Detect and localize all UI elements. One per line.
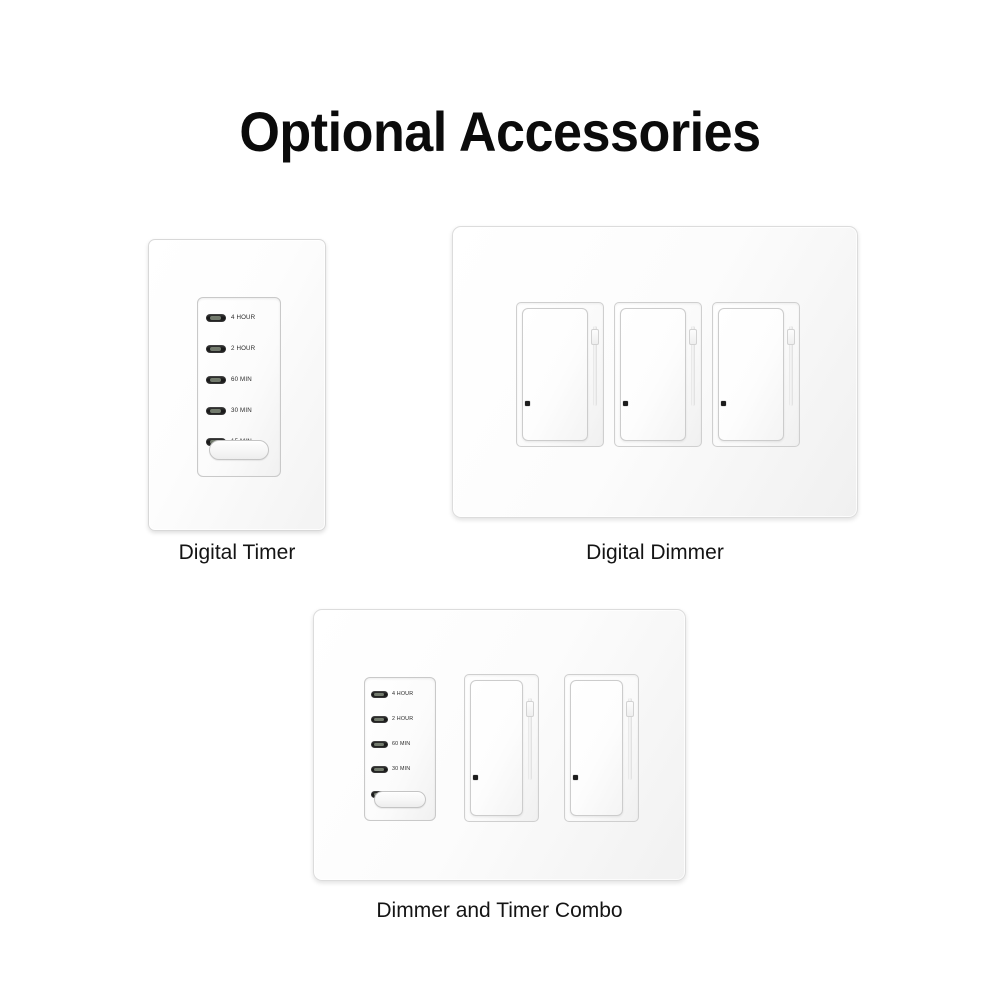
combo-timer-led-row-2-hour[interactable]: 2 HOUR <box>371 716 413 723</box>
combo-timer-led-label: 4 HOUR <box>392 692 413 697</box>
status-led-icon <box>721 401 726 406</box>
dimmer-switch-3[interactable] <box>712 302 800 447</box>
led-indicator-icon <box>371 691 388 698</box>
timer-led-row-60-min[interactable]: 60 MIN <box>206 376 252 384</box>
status-led-icon <box>623 401 628 406</box>
status-led-icon <box>473 775 478 780</box>
timer-led-label: 30 MIN <box>231 408 252 414</box>
combo-timer-module: 4 HOUR 2 HOUR 60 MIN 30 MIN 15 MIN <box>364 677 436 821</box>
caption-digital-timer: Digital Timer <box>148 541 326 565</box>
led-indicator-icon <box>206 376 226 384</box>
combo-timer-led-label: 2 HOUR <box>392 717 413 722</box>
rocker-paddle[interactable] <box>470 680 523 816</box>
combo-dimmer-switch-1[interactable] <box>464 674 539 822</box>
dimmer-slider-thumb[interactable] <box>626 701 634 717</box>
timer-led-label: 4 HOUR <box>231 315 255 321</box>
dimmer-switch-1[interactable] <box>516 302 604 447</box>
status-led-icon <box>573 775 578 780</box>
combo-dimmer-switch-2[interactable] <box>564 674 639 822</box>
page-title: Optional Accessories <box>35 103 965 162</box>
rocker-paddle[interactable] <box>620 308 686 441</box>
dimmer-slider-thumb[interactable] <box>787 329 795 345</box>
led-indicator-icon <box>371 766 388 773</box>
caption-digital-dimmer: Digital Dimmer <box>452 541 858 565</box>
timer-faceplate-module: 4 HOUR 2 HOUR 60 MIN 30 MIN 15 MIN <box>197 297 281 477</box>
timer-led-row-4-hour[interactable]: 4 HOUR <box>206 314 255 322</box>
dimmer-slider-thumb[interactable] <box>591 329 599 345</box>
caption-dimmer-timer-combo: Dimmer and Timer Combo <box>313 899 686 923</box>
rocker-paddle[interactable] <box>718 308 784 441</box>
led-indicator-icon <box>206 407 226 415</box>
timer-led-label: 60 MIN <box>231 377 252 383</box>
product-digital-dimmer-plate[interactable] <box>452 226 858 518</box>
dimmer-slider-thumb[interactable] <box>526 701 534 717</box>
led-indicator-icon <box>206 314 226 322</box>
dimmer-slider-thumb[interactable] <box>689 329 697 345</box>
timer-led-row-30-min[interactable]: 30 MIN <box>206 407 252 415</box>
product-digital-timer-plate[interactable]: 4 HOUR 2 HOUR 60 MIN 30 MIN 15 MIN <box>148 239 326 531</box>
combo-timer-led-label: 30 MIN <box>392 767 410 772</box>
combo-timer-push-button[interactable] <box>374 791 426 808</box>
led-indicator-icon <box>371 716 388 723</box>
rocker-paddle[interactable] <box>522 308 588 441</box>
timer-led-label: 2 HOUR <box>231 346 255 352</box>
dimmer-switch-2[interactable] <box>614 302 702 447</box>
led-indicator-icon <box>206 345 226 353</box>
timer-push-button[interactable] <box>209 440 269 460</box>
product-dimmer-timer-combo-plate[interactable]: 4 HOUR 2 HOUR 60 MIN 30 MIN 15 MIN <box>313 609 686 881</box>
rocker-paddle[interactable] <box>570 680 623 816</box>
led-indicator-icon <box>371 741 388 748</box>
combo-timer-led-row-30-min[interactable]: 30 MIN <box>371 766 410 773</box>
status-led-icon <box>525 401 530 406</box>
combo-timer-led-row-4-hour[interactable]: 4 HOUR <box>371 691 413 698</box>
combo-timer-led-row-60-min[interactable]: 60 MIN <box>371 741 410 748</box>
combo-timer-led-label: 60 MIN <box>392 742 410 747</box>
timer-led-row-2-hour[interactable]: 2 HOUR <box>206 345 255 353</box>
